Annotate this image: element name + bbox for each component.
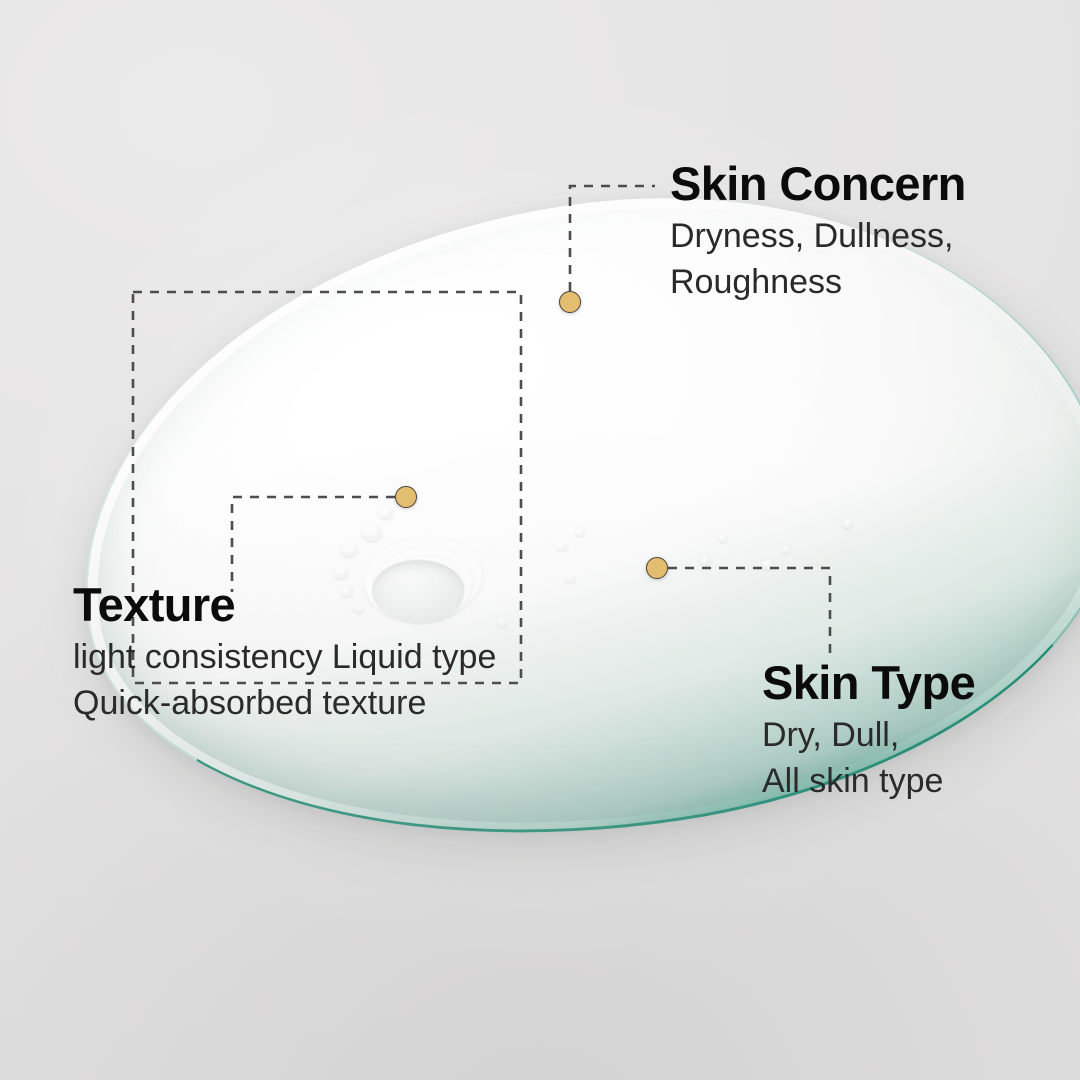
bubble: [762, 560, 774, 570]
callout-line-2: Quick-absorbed texture: [73, 680, 496, 726]
bubble: [575, 528, 584, 536]
callout-line-1: Dryness, Dullness,: [670, 213, 966, 259]
bubble: [700, 556, 711, 565]
bubble: [497, 618, 507, 627]
callout-title: Skin Type: [762, 659, 975, 706]
callout-title: Texture: [73, 581, 496, 628]
callout-texture: Texture light consistency Liquid type Qu…: [73, 581, 496, 726]
callout-line-2: Roughness: [670, 259, 966, 305]
marker-dot-skin-type[interactable]: [646, 557, 668, 579]
marker-dot-texture[interactable]: [395, 486, 417, 508]
bubble: [555, 540, 568, 551]
callout-line-1: Dry, Dull,: [762, 712, 975, 758]
bubble: [718, 534, 727, 542]
bubble: [782, 546, 790, 553]
callout-line-2: All skin type: [762, 758, 975, 804]
infographic-canvas: Skin Concern Dryness, Dullness, Roughnes…: [0, 0, 1080, 1080]
callout-title: Skin Concern: [670, 160, 966, 207]
callout-skin-type: Skin Type Dry, Dull, All skin type: [762, 659, 975, 804]
bubble: [565, 574, 575, 583]
bubble: [334, 566, 348, 579]
bubble: [378, 506, 393, 519]
bubble: [843, 520, 852, 528]
callout-line-1: light consistency Liquid type: [73, 634, 496, 680]
bubble: [341, 542, 358, 557]
marker-dot-skin-concern[interactable]: [559, 291, 581, 313]
bubble: [362, 524, 382, 541]
callout-skin-concern: Skin Concern Dryness, Dullness, Roughnes…: [670, 160, 966, 305]
